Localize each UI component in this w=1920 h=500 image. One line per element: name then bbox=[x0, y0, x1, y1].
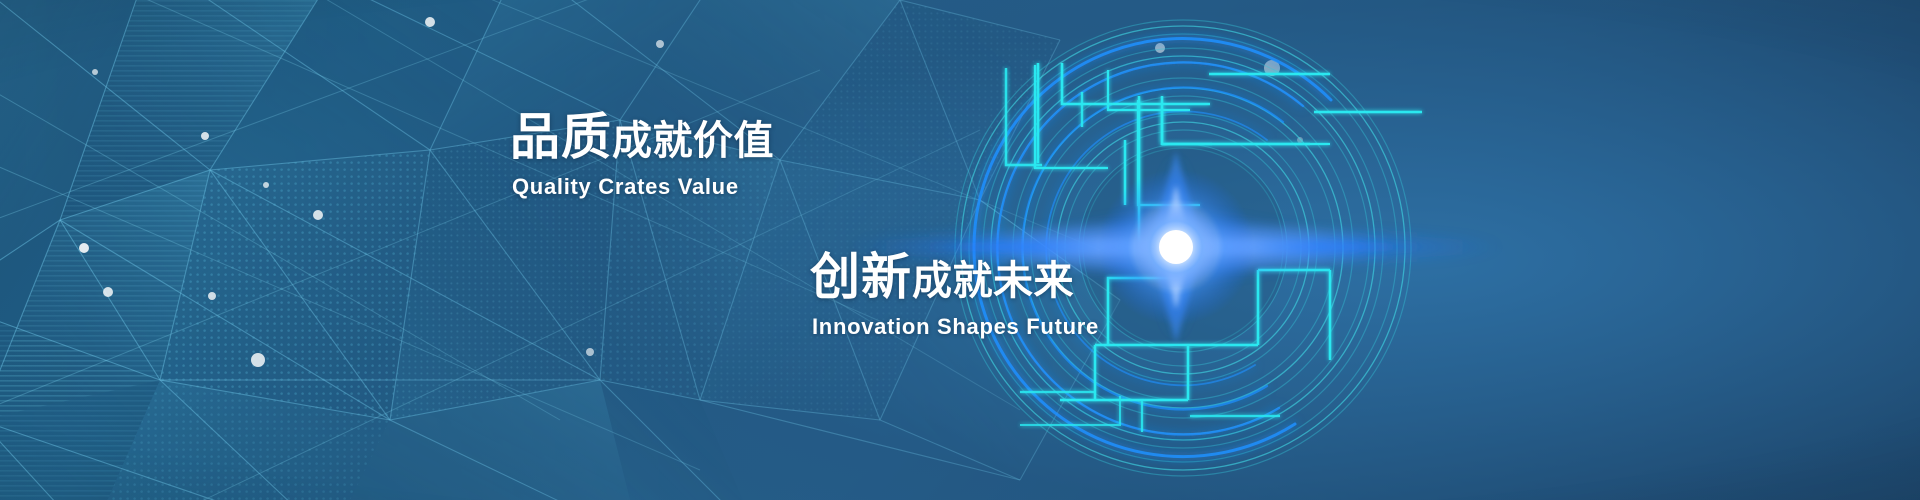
subhead-quality: Quality Crates Value bbox=[512, 174, 774, 200]
background-vignette bbox=[0, 0, 1920, 500]
headline-block-quality: 品质成就价值 Quality Crates Value bbox=[510, 112, 774, 200]
headline-innovation-lead: 创新 bbox=[810, 249, 912, 305]
headline-quality-rest: 成就价值 bbox=[612, 119, 774, 163]
headline-innovation-rest: 成就未来 bbox=[912, 259, 1074, 303]
hero-banner: 品质成就价值 Quality Crates Value 创新成就未来 Innov… bbox=[0, 0, 1920, 500]
subhead-innovation: Innovation Shapes Future bbox=[812, 314, 1099, 340]
headline-block-innovation: 创新成就未来 Innovation Shapes Future bbox=[810, 252, 1099, 340]
headline-quality-lead: 品质 bbox=[510, 109, 612, 165]
headline-quality: 品质成就价值 bbox=[510, 112, 774, 162]
headline-innovation: 创新成就未来 bbox=[810, 252, 1099, 302]
